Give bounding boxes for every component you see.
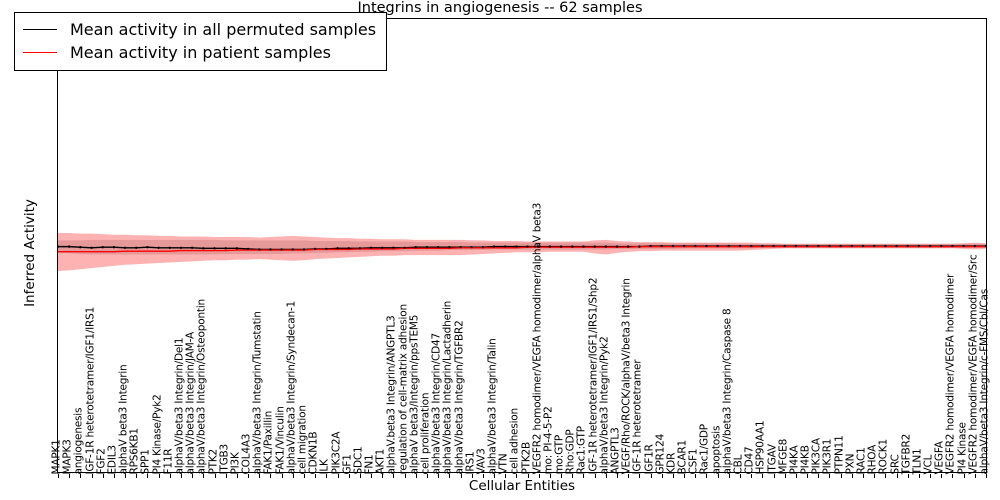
data-point-marker <box>68 245 70 247</box>
x-tick-label: Rac1/GDP <box>700 424 711 474</box>
data-point-marker <box>728 245 730 247</box>
x-tick-label: FN1 <box>365 454 376 474</box>
data-point-marker <box>515 245 517 247</box>
data-point-marker <box>113 246 115 248</box>
data-point-marker <box>493 245 495 247</box>
data-point-marker <box>918 245 920 247</box>
x-tick-label: ITGAV <box>767 444 778 474</box>
x-tick-label: GPR124 <box>655 433 666 474</box>
data-point-marker <box>403 247 405 249</box>
data-point-marker <box>683 245 685 247</box>
x-tick-label: TGFBR2 <box>901 433 912 474</box>
x-tick-label: FAK1/Paxillin <box>264 410 275 474</box>
x-tick-label: cell migration <box>297 405 308 474</box>
data-point-marker <box>157 247 159 249</box>
data-point-marker <box>437 246 439 248</box>
data-point-marker <box>448 246 450 248</box>
legend-line-swatch-black <box>23 29 57 30</box>
x-tick-label: F11R <box>163 448 174 474</box>
x-tick-label: alphaV beta3/Integrin/ppsTEM5 <box>409 314 420 474</box>
data-point-marker <box>359 247 361 249</box>
legend-item[interactable]: Mean activity in patient samples <box>23 41 376 64</box>
x-tick-label: ILK <box>320 459 331 474</box>
data-point-marker <box>582 245 584 247</box>
x-tick-label: cell proliferation <box>420 392 431 474</box>
x-tick-label: alphaV beta3 Integrin <box>119 364 130 474</box>
data-point-marker <box>560 245 562 247</box>
data-point-marker <box>180 247 182 249</box>
x-tick-label: PIK3C2A <box>331 431 342 474</box>
data-point-marker <box>314 248 316 250</box>
x-tick-label: FAK1/Vinculin <box>275 406 286 474</box>
data-point-marker <box>907 245 909 247</box>
data-point-marker <box>236 247 238 249</box>
data-point-marker <box>795 245 797 247</box>
x-tick-label: VAV3 <box>476 448 487 474</box>
x-tick-label: IGF-1R heterotetramer/IGF1/IRS1 <box>85 306 96 474</box>
x-tick-label: VEGFR2 homodimer/VEGFA homodimer/Src <box>968 254 979 474</box>
chart-figure: Integrins in angiogenesis -- 62 samples … <box>0 0 1000 500</box>
data-point-marker <box>90 247 92 249</box>
data-point-marker <box>839 245 841 247</box>
x-tick-label: MAPK1 <box>52 439 63 474</box>
data-point-marker <box>549 245 551 247</box>
x-tick-label: mo: PI-4-5-P2 <box>543 406 554 474</box>
data-point-marker <box>884 245 886 247</box>
x-tick-label: KDR <box>666 452 677 474</box>
data-point-marker <box>929 245 931 247</box>
data-point-marker <box>482 246 484 248</box>
data-point-marker <box>247 248 249 250</box>
x-tick-label: SPP1 <box>141 449 152 474</box>
x-tick-label: PTPN11 <box>834 435 845 474</box>
x-tick-label: alphaV/beta3 Integrin/Caspase 8 <box>722 308 733 474</box>
data-point-marker <box>504 245 506 247</box>
x-tick-label: COL4A3 <box>242 433 253 474</box>
x-tick-label: alphaV/beta3 Integrin/Osteopontin <box>197 298 208 474</box>
data-point-marker <box>258 248 260 250</box>
data-point-marker <box>146 246 148 248</box>
legend-item[interactable]: Mean activity in all permuted samples <box>23 18 376 41</box>
data-point-marker <box>392 247 394 249</box>
chart-legend: Mean activity in all permuted samples Me… <box>14 12 387 71</box>
data-point-marker <box>951 245 953 247</box>
x-tick-label: SDC1 <box>353 446 364 474</box>
x-tick-label: alphaV/beta3 Integrin/TGFBR2 <box>454 320 465 474</box>
x-tick-label: CBL <box>734 454 745 474</box>
data-point-marker <box>694 245 696 247</box>
data-point-marker <box>716 245 718 247</box>
x-tick-label: alphaV/beta3 Integrin/c-FMS/Cbl/Cas <box>980 289 991 475</box>
data-point-marker <box>348 247 350 249</box>
data-point-marker <box>817 245 819 247</box>
data-point-marker <box>415 246 417 248</box>
data-point-marker <box>426 246 428 248</box>
x-tick-label: PI4 Kinase <box>957 422 968 474</box>
x-tick-label: PIK3R1 <box>823 438 834 474</box>
x-tick-label: ITGB3 <box>219 443 230 474</box>
data-point-marker <box>761 245 763 247</box>
data-point-marker <box>303 248 305 250</box>
data-point-marker <box>962 245 964 247</box>
y-axis-label: Inferred Activity <box>22 133 38 373</box>
data-point-marker <box>325 248 327 250</box>
x-tick-label: apoptosis <box>711 425 722 474</box>
x-tick-label: PI3K <box>230 452 241 474</box>
x-tick-label: RAC1 <box>857 447 868 474</box>
data-point-marker <box>638 245 640 247</box>
patient-confidence-band <box>58 233 986 271</box>
x-tick-label: MFGE8 <box>778 438 789 474</box>
legend-label: Mean activity in all permuted samples <box>70 20 376 39</box>
data-point-marker <box>940 245 942 247</box>
x-tick-label: ANGPTL3 <box>611 427 622 474</box>
data-point-marker <box>616 245 618 247</box>
data-point-marker <box>672 245 674 247</box>
data-point-marker <box>202 247 204 249</box>
x-tick-label: PI4 Kinase/Pyk2 <box>152 394 163 474</box>
data-point-marker <box>336 247 338 249</box>
x-tick-label: HSP90AA1 <box>756 420 767 474</box>
data-point-marker <box>862 245 864 247</box>
data-point-marker <box>213 247 215 249</box>
data-point-marker <box>169 247 171 249</box>
data-point-marker <box>79 246 81 248</box>
data-point-marker <box>292 248 294 250</box>
data-point-marker <box>627 245 629 247</box>
data-point-marker <box>124 247 126 249</box>
x-tick-label: PTK2 <box>208 448 219 474</box>
x-tick-label: alphaV/beta3 Integrin/Talin <box>488 338 499 474</box>
x-tick-label: ROCK1 <box>879 439 890 474</box>
data-point-marker <box>661 245 663 247</box>
x-tick-label: PI4KA <box>789 445 800 474</box>
data-point-marker <box>280 248 282 250</box>
x-axis-label: Cellular Entities <box>57 478 987 494</box>
x-tick-label: SRC <box>890 454 901 474</box>
x-tick-label: alphaV/beta3 Integrin/Del1 <box>174 337 185 474</box>
x-tick-label: FGF2 <box>96 448 107 474</box>
data-point-marker <box>974 245 976 247</box>
x-tick-label: alphaV/beta3 Integrin/Syndecan-1 <box>286 300 297 474</box>
data-point-marker <box>828 245 830 247</box>
x-tick-label: IRS1 <box>465 451 476 474</box>
data-point-marker <box>370 247 372 249</box>
x-tick-label: angiogenesis <box>74 407 85 474</box>
x-tick-label: Rac1:GTP <box>577 426 588 474</box>
data-point-marker <box>772 245 774 247</box>
x-tick-label: TLN1 <box>912 448 923 474</box>
data-point-marker <box>739 245 741 247</box>
x-tick-label: VEGFR2 homodimer/VEGFA homodimer <box>946 273 957 474</box>
data-point-marker <box>784 245 786 247</box>
data-point-marker <box>750 245 752 247</box>
x-tick-label: IGF-1R heterotetramer/IGF1/IRS1/Shp2 <box>588 277 599 474</box>
data-point-marker <box>191 247 193 249</box>
x-tick-label: VEGFR2 homodimer/VEGFA homodimer/alphaV … <box>532 202 543 474</box>
data-point-marker <box>135 247 137 249</box>
data-point-marker <box>102 246 104 248</box>
data-point-marker <box>851 245 853 247</box>
data-point-marker <box>381 247 383 249</box>
data-point-marker <box>593 245 595 247</box>
x-tick-label: cell adhesion <box>510 408 521 475</box>
data-point-marker <box>605 245 607 247</box>
x-tick-label: alphaV/beta3 Integrin/Pyk2 <box>599 336 610 474</box>
x-tick-label: alphaV/beta3 Integrin/Lactadherin <box>443 300 454 474</box>
data-point-marker <box>895 245 897 247</box>
data-point-marker <box>526 245 528 247</box>
x-tick-label: PXN <box>845 453 856 474</box>
legend-label: Mean activity in patient samples <box>70 43 331 62</box>
x-tick-label: IGF-1R heterotetramer <box>633 359 644 474</box>
legend-line-swatch-red <box>23 52 57 53</box>
x-tick-label: regulation of cell-matrix adhesion <box>398 304 409 474</box>
x-tick-label: IGF1R <box>644 444 655 474</box>
data-point-marker <box>269 248 271 250</box>
x-tick-label: EDIL3 <box>107 445 118 474</box>
data-point-marker <box>470 246 472 248</box>
x-tick-label: PTK2B <box>521 441 532 474</box>
data-point-marker <box>225 247 227 249</box>
data-point-marker <box>571 245 573 247</box>
data-point-marker <box>705 245 707 247</box>
x-tick-label: alphaV.beta3 Integrin/ANGPTL3 <box>387 315 398 474</box>
data-point-marker <box>649 245 651 247</box>
data-point-marker <box>459 246 461 248</box>
data-point-marker <box>806 245 808 247</box>
data-point-marker <box>873 245 875 247</box>
x-tick-label: GF1 <box>342 454 353 474</box>
